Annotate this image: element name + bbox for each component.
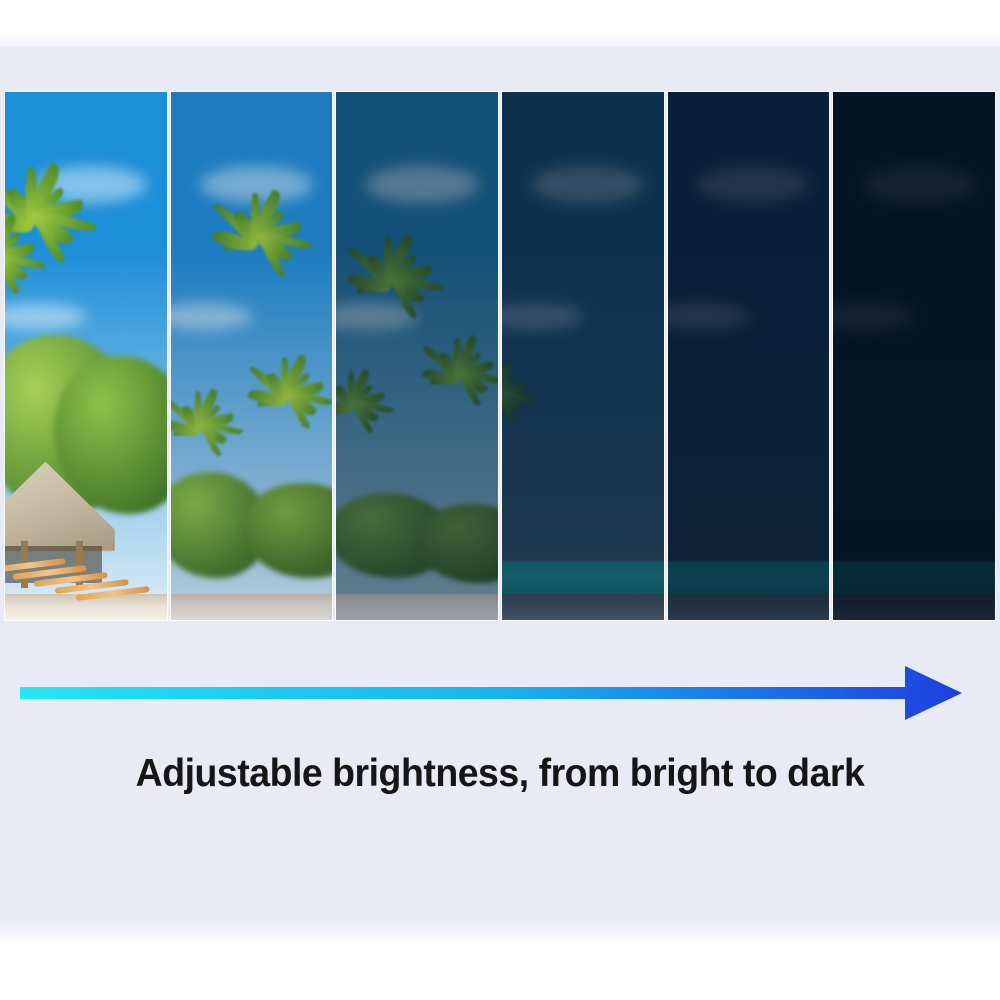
sand (171, 594, 333, 620)
scene-6 (833, 92, 995, 620)
cloud (531, 166, 644, 203)
cloud (668, 303, 749, 329)
sea (502, 562, 664, 596)
shoreline (502, 594, 664, 620)
shoreline (668, 594, 830, 620)
product-feature-graphic: Adjustable brightness, from bright to da… (0, 0, 1000, 1000)
shoreline (833, 594, 995, 620)
scene-2 (171, 92, 333, 620)
scene-5 (668, 92, 830, 620)
sea (833, 562, 995, 596)
sand (336, 594, 498, 620)
scene-1 (5, 92, 167, 620)
scene-4 (502, 92, 664, 620)
sea (668, 562, 830, 596)
brightness-gradient-arrow (0, 660, 1000, 730)
caption-text: Adjustable brightness, from bright to da… (20, 752, 980, 796)
gallery-panel-3[interactable] (336, 92, 498, 620)
gallery-panel-1[interactable] (5, 92, 167, 620)
cloud (365, 166, 478, 203)
cloud (171, 303, 252, 329)
background-fade-bottom (0, 920, 1000, 942)
gallery-panel-4[interactable] (502, 92, 664, 620)
brightness-comparison-strip (5, 92, 995, 620)
gallery-panel-6[interactable] (833, 92, 995, 620)
cloud (862, 166, 975, 203)
scene-3 (336, 92, 498, 620)
gallery-panel-2[interactable] (171, 92, 333, 620)
gallery-panel-5[interactable] (668, 92, 830, 620)
cloud (697, 166, 810, 203)
